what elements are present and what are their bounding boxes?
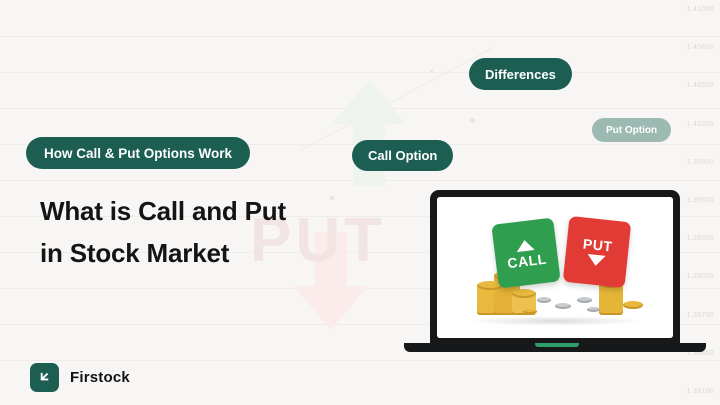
pill-put-option[interactable]: Put Option [592, 118, 671, 142]
price-ladder-value: 1.40800 [654, 44, 714, 51]
pill-call-option[interactable]: Call Option [352, 140, 453, 171]
price-ladder-value: 1.41060 [654, 6, 714, 13]
screen-artwork: CALL PUT [437, 197, 673, 338]
artwork-shadow [465, 316, 645, 326]
decor-dot [430, 70, 433, 73]
laptop-screen: CALL PUT [437, 197, 673, 338]
price-ladder-value: 1.38100 [654, 388, 714, 395]
brand-name: Firstock [70, 369, 130, 386]
page-title-line-2: in Stock Market [40, 232, 380, 274]
coin [623, 301, 643, 309]
coin [523, 309, 537, 314]
triangle-down-icon [587, 254, 606, 267]
laptop-notch [535, 343, 579, 347]
pill-differences[interactable]: Differences [469, 58, 572, 90]
arrow-logo-icon [30, 363, 59, 392]
page-title-line-1: What is Call and Put [40, 190, 380, 232]
laptop-body: CALL PUT [430, 190, 680, 348]
decor-dot [470, 118, 475, 123]
brand-logo[interactable]: Firstock [30, 363, 130, 392]
price-ladder-value: 1.40500 [654, 82, 714, 89]
call-card: CALL [491, 217, 560, 288]
coin [577, 297, 592, 303]
triangle-up-icon [515, 239, 534, 252]
put-card: PUT [563, 216, 632, 288]
coin [537, 297, 551, 303]
up-arrow-graphic [330, 78, 408, 188]
laptop-mockup: CALL PUT [404, 190, 706, 362]
coin [587, 307, 600, 312]
call-card-label: CALL [506, 250, 547, 271]
coin [512, 289, 536, 298]
price-ladder-value: 1.39900 [654, 159, 714, 166]
presentation-slide: PUT 1.41060 1.40800 1.40500 1.40200 1.39… [0, 0, 720, 405]
page-title: What is Call and Put in Stock Market [40, 190, 380, 274]
coin [555, 303, 571, 309]
put-card-label: PUT [582, 235, 613, 254]
pill-how-options-work[interactable]: How Call & Put Options Work [26, 137, 250, 169]
